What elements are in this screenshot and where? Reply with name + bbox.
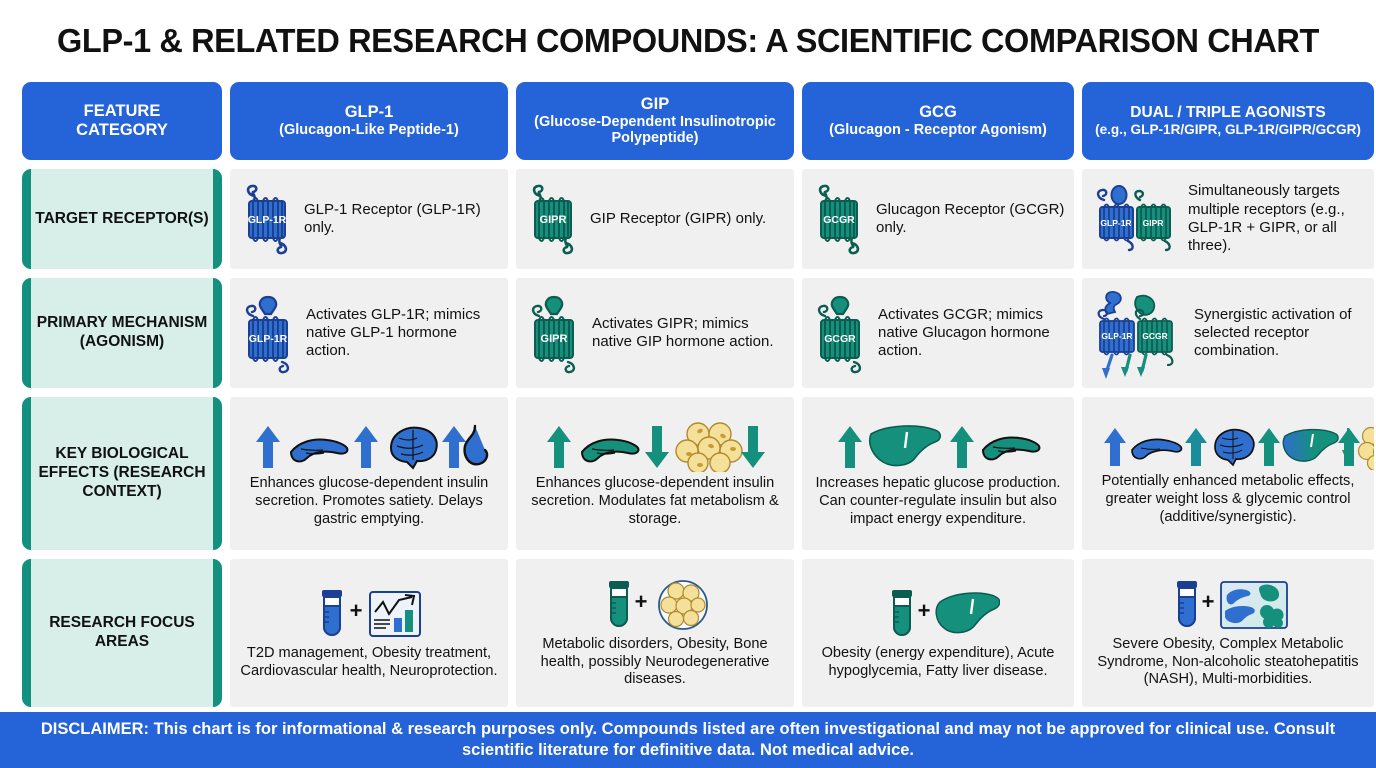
header-cell-gcg: GCG (Glucagon - Receptor Agonism) <box>802 82 1074 160</box>
svg-text:GIPR: GIPR <box>540 214 567 226</box>
header-cell-gip: GIP (Glucose-Dependent Insulinotropic Po… <box>516 82 794 160</box>
header-main: GLP-1 <box>345 103 394 122</box>
svg-text:GLP-1R: GLP-1R <box>249 333 288 345</box>
svg-text:GCGR: GCGR <box>824 333 856 345</box>
cell-target-receptors-dual: GLP-1R GIPR Simultaneously targets multi… <box>1082 169 1374 269</box>
category-label-target-receptors: TARGET RECEPTOR(S) <box>22 169 222 269</box>
cell-target-receptors-gip: GIPR GIP Receptor (GIPR) only. <box>516 169 794 269</box>
cell-text: Activates GIPR; mimics native GIP hormon… <box>592 315 786 352</box>
page-title: GLP-1 & RELATED RESEARCH COMPOUNDS: A SC… <box>10 0 1365 82</box>
svg-text:GIPR: GIPR <box>1143 218 1164 228</box>
cell-text: Activates GLP-1R; mimics native GLP-1 ho… <box>306 306 500 361</box>
cell-text: GLP-1 Receptor (GLP-1R) only. <box>304 201 500 238</box>
cell-text: Obesity (energy expenditure), Acute hypo… <box>810 645 1066 681</box>
receptor-bound-gcgr-icon: GCGR <box>810 290 870 376</box>
cell-research-focus-gcg: + Obesity (energy expenditure), Acute hy… <box>802 559 1074 707</box>
comparison-grid: FEATURE CATEGORY GLP-1 (Glucagon-Like Pe… <box>0 82 1376 712</box>
svg-text:GLP-1R: GLP-1R <box>1101 331 1132 341</box>
effects-icon-row <box>249 418 489 472</box>
receptor-gcgr-icon: GCGR <box>810 183 868 255</box>
disclaimer-banner: DISCLAIMER: This chart is for informatio… <box>0 712 1376 768</box>
cell-primary-mechanism-gcg: GCGR Activates GCGR; mimics native Gluca… <box>802 278 1074 388</box>
cell-primary-mechanism-gip: GIPR Activates GIPR; mimics native GIP h… <box>516 278 794 388</box>
effects-icon-row <box>540 418 770 472</box>
cell-biological-effects-gcg: Increases hepatic glucose production. Ca… <box>802 397 1074 550</box>
header-sub: CATEGORY <box>76 121 168 140</box>
cell-text: Synergistic activation of selected recep… <box>1194 306 1366 361</box>
header-sub: (Glucagon - Receptor Agonism) <box>829 122 1047 139</box>
cell-text: Glucagon Receptor (GCGR) only. <box>876 201 1066 238</box>
header-cell-feature-category: FEATURE CATEGORY <box>22 82 222 160</box>
svg-text:+: + <box>635 589 648 614</box>
header-main: FEATURE <box>84 102 161 121</box>
svg-text:GLP-1R: GLP-1R <box>248 214 287 226</box>
header-main: GCG <box>919 103 957 122</box>
category-label-primary-mechanism: PRIMARY MECHANISM (AGONISM) <box>22 278 222 388</box>
header-main: DUAL / TRIPLE AGONISTS <box>1130 104 1325 122</box>
receptor-pair-glp1r-gipr-icon: GLP-1R GIPR <box>1090 183 1180 255</box>
research-icon-row: + <box>593 577 717 633</box>
cell-research-focus-dual: + Severe Obesity, Complex Metabolic Synd… <box>1082 559 1374 707</box>
receptor-gipr-icon: GIPR <box>524 183 582 255</box>
svg-text:GCGR: GCGR <box>1142 331 1168 341</box>
cell-text: Activates GCGR; mimics native Glucagon h… <box>878 306 1066 361</box>
cell-target-receptors-gcg: GCGR Glucagon Receptor (GCGR) only. <box>802 169 1074 269</box>
cell-text: Enhances glucose-dependent insulin secre… <box>238 475 500 528</box>
cell-primary-mechanism-glp1: GLP-1R Activates GLP-1R; mimics native G… <box>230 278 508 388</box>
cell-text: Enhances glucose-dependent insulin secre… <box>524 475 786 528</box>
cell-text: GIP Receptor (GIPR) only. <box>590 210 786 228</box>
header-sub: (e.g., GLP-1R/GIPR, GLP-1R/GIPR/GCGR) <box>1095 122 1361 137</box>
cell-target-receptors-glp1: GLP-1R GLP-1 Receptor (GLP-1R) only. <box>230 169 508 269</box>
cell-biological-effects-glp1: Enhances glucose-dependent insulin secre… <box>230 397 508 550</box>
svg-text:+: + <box>350 598 363 623</box>
svg-text:+: + <box>1202 589 1215 614</box>
research-icon-row: + <box>876 586 1000 642</box>
cell-text: T2D management, Obesity treatment, Cardi… <box>238 645 500 681</box>
research-icon-row: + <box>304 586 434 642</box>
cell-primary-mechanism-dual: GLP-1R GCGR Synergistic activation of se… <box>1082 278 1374 388</box>
header-sub: (Glucagon-Like Peptide-1) <box>279 122 459 139</box>
header-main: GIP <box>641 95 669 114</box>
cell-biological-effects-gip: Enhances glucose-dependent insulin secre… <box>516 397 794 550</box>
cell-text: Potentially enhanced metabolic effects, … <box>1090 473 1366 526</box>
effects-icon-row <box>831 418 1046 472</box>
receptor-glp1r-icon: GLP-1R <box>238 183 296 255</box>
cell-research-focus-glp1: + T2D management, Obesity treatment, Car… <box>230 559 508 707</box>
svg-text:GCGR: GCGR <box>823 214 855 226</box>
effects-icon-row <box>1101 420 1355 470</box>
receptor-pair-activated-icon: GLP-1R GCGR <box>1090 285 1186 381</box>
receptor-bound-glp1r-icon: GLP-1R <box>238 290 298 376</box>
svg-text:GIPR: GIPR <box>541 333 568 345</box>
category-label-research-focus-areas: RESEARCH FOCUS AREAS <box>22 559 222 707</box>
cell-text: Metabolic disorders, Obesity, Bone healt… <box>524 636 786 689</box>
infographic-page: GLP-1 & RELATED RESEARCH COMPOUNDS: A SC… <box>0 0 1376 768</box>
cell-text: Increases hepatic glucose production. Ca… <box>810 475 1066 528</box>
header-sub: (Glucose-Dependent Insulinotropic Polype… <box>522 114 788 147</box>
cell-biological-effects-dual: Potentially enhanced metabolic effects, … <box>1082 397 1374 550</box>
research-icon-row: + <box>1163 577 1293 633</box>
svg-text:GLP-1R: GLP-1R <box>1100 218 1131 228</box>
header-cell-glp1: GLP-1 (Glucagon-Like Peptide-1) <box>230 82 508 160</box>
cell-text: Severe Obesity, Complex Metabolic Syndro… <box>1090 636 1366 689</box>
header-cell-dual-triple-agonists: DUAL / TRIPLE AGONISTS (e.g., GLP-1R/GIP… <box>1082 82 1374 160</box>
category-label-key-biological-effects: KEY BIOLOGICAL EFFECTS (RESEARCH CONTEXT… <box>22 397 222 550</box>
svg-text:+: + <box>918 598 931 623</box>
cell-text: Simultaneously targets multiple receptor… <box>1188 182 1366 255</box>
receptor-bound-gipr-icon: GIPR <box>524 290 584 376</box>
cell-research-focus-gip: + Metabolic disorders, Obesity, Bone hea… <box>516 559 794 707</box>
